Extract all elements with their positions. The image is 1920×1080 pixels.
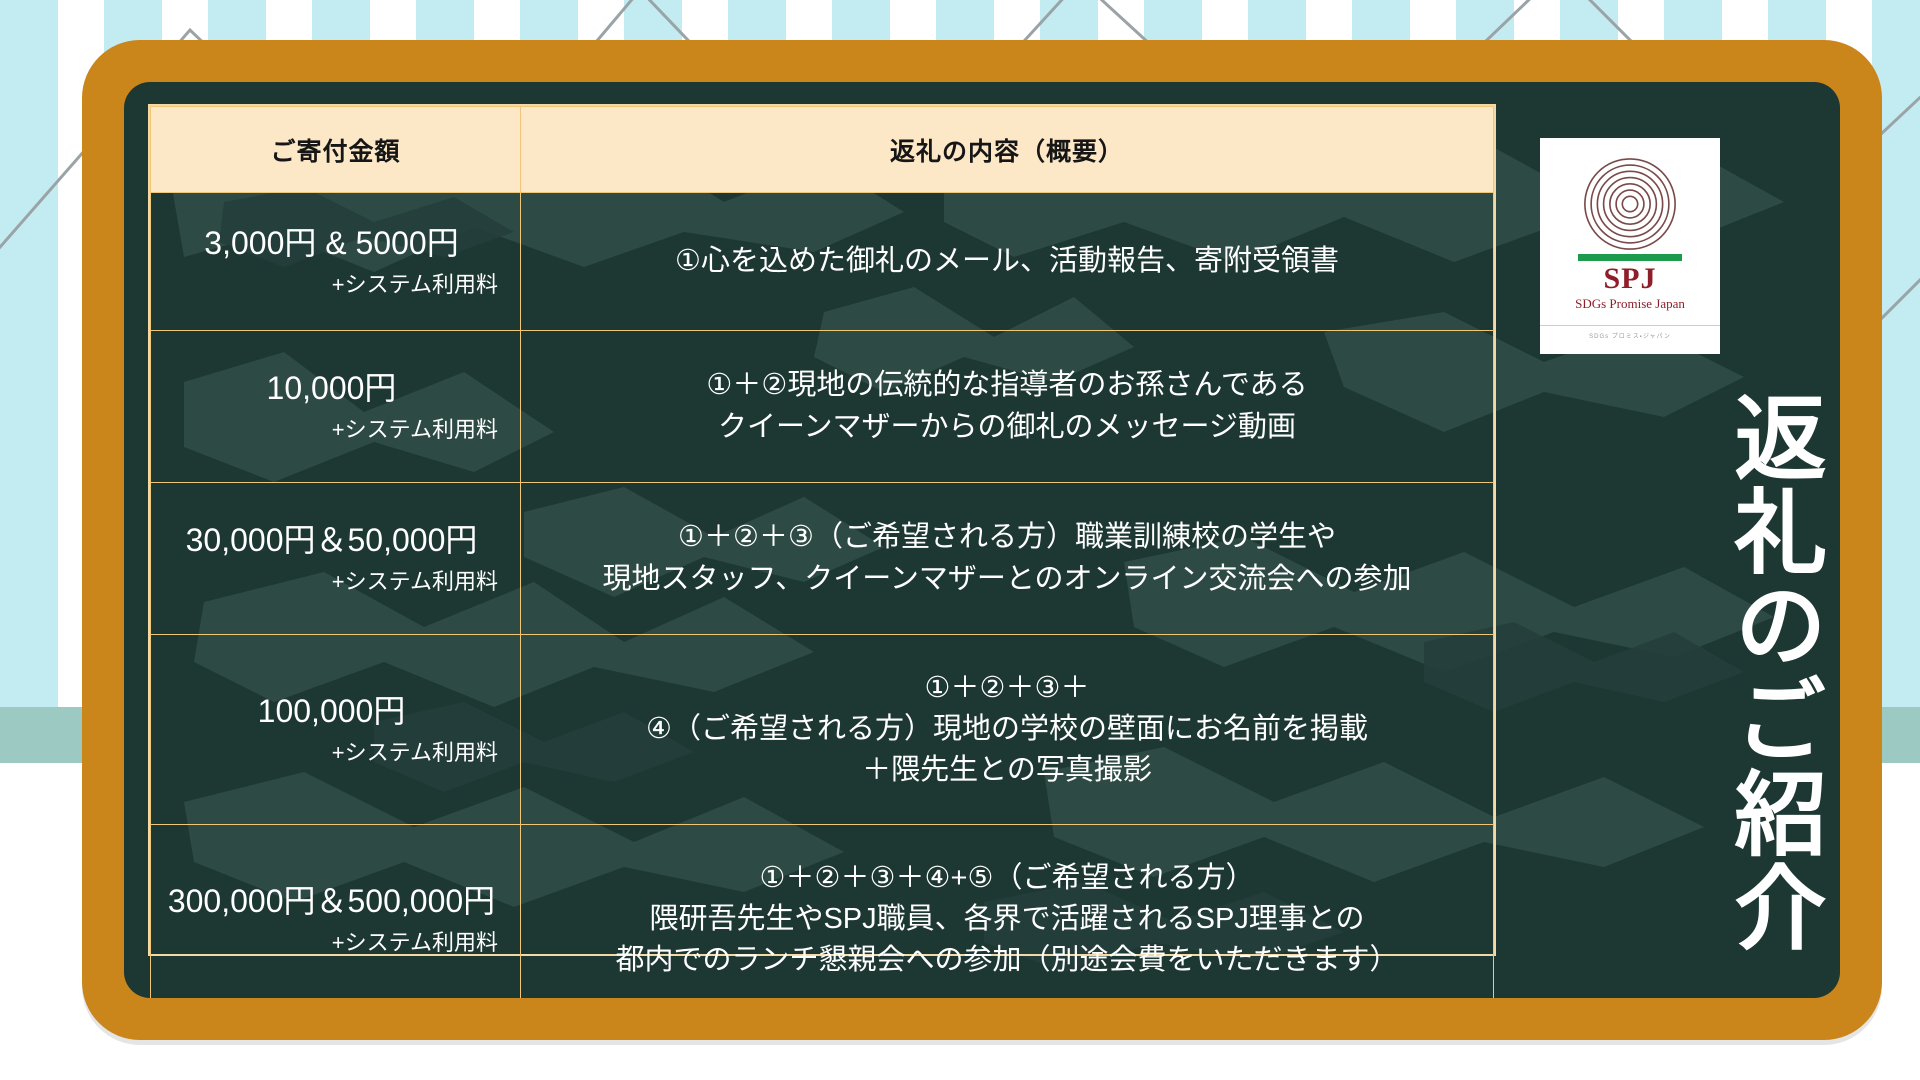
- reward-line: 現地スタッフ、クイーンマザーとのオンライン交流会への参加: [547, 559, 1467, 600]
- reward-line: ①心を込めた御礼のメール、活動報告、寄附受領書: [547, 241, 1467, 282]
- amount-cell: 300,000円＆500,000円 +システム利用料: [151, 825, 521, 999]
- amount-value: 10,000円: [161, 370, 502, 407]
- amount-value: 30,000円＆50,000円: [161, 522, 502, 559]
- rewards-table: ご寄付金額 返礼の内容（概要） 3,000円 & 5000円 +システム利用料 …: [150, 106, 1494, 998]
- dark-chalkboard-panel: ご寄付金額 返礼の内容（概要） 3,000円 & 5000円 +システム利用料 …: [124, 82, 1840, 998]
- reward-line: ④（ご希望される方）現地の学校の壁面にお名前を掲載: [547, 709, 1467, 750]
- rewards-table-container: ご寄付金額 返礼の内容（概要） 3,000円 & 5000円 +システム利用料 …: [148, 104, 1496, 956]
- slide-canvas: ご寄付金額 返礼の内容（概要） 3,000円 & 5000円 +システム利用料 …: [0, 0, 1920, 1080]
- reward-cell: ①＋②＋③＋④+⑤（ご希望される方） 隈研吾先生やSPJ職員、各界で活躍されるS…: [521, 825, 1494, 999]
- reward-line: ＋隈先生との写真撮影: [547, 750, 1467, 791]
- amount-cell: 10,000円 +システム利用料: [151, 331, 521, 483]
- system-fee-note: +システム利用料: [161, 569, 502, 595]
- amount-cell: 30,000円＆50,000円 +システム利用料: [151, 483, 521, 635]
- table-header-row: ご寄付金額 返礼の内容（概要）: [151, 107, 1494, 193]
- table-row: 10,000円 +システム利用料 ①＋②現地の伝統的な指導者のお孫さんである ク…: [151, 331, 1494, 483]
- right-side-panel: SPJ SDGs Promise Japan SDGs プロミス・ジャパン 返礼…: [1518, 104, 1818, 976]
- reward-cell: ①＋②現地の伝統的な指導者のお孫さんである クイーンマザーからの御礼のメッセージ…: [521, 331, 1494, 483]
- reward-line: 隈研吾先生やSPJ職員、各界で活躍されるSPJ理事との: [547, 899, 1467, 940]
- reward-line: ①＋②＋③＋④+⑤（ご希望される方）: [547, 858, 1467, 899]
- column-header-reward: 返礼の内容（概要）: [521, 107, 1494, 193]
- reward-cell: ①＋②＋③＋ ④（ご希望される方）現地の学校の壁面にお名前を掲載 ＋隈先生との写…: [521, 635, 1494, 825]
- table-row: 100,000円 +システム利用料 ①＋②＋③＋ ④（ご希望される方）現地の学校…: [151, 635, 1494, 825]
- logo-acronym: SPJ: [1603, 263, 1656, 295]
- system-fee-note: +システム利用料: [161, 930, 502, 956]
- reward-cell: ①＋②＋③（ご希望される方）職業訓練校の学生や 現地スタッフ、クイーンマザーとの…: [521, 483, 1494, 635]
- reward-line: クイーンマザーからの御礼のメッセージ動画: [547, 407, 1467, 448]
- logo-subtitle: SDGs Promise Japan: [1575, 296, 1685, 312]
- amount-value: 300,000円＆500,000円: [161, 883, 502, 920]
- amount-cell: 3,000円 & 5000円 +システム利用料: [151, 193, 521, 331]
- system-fee-note: +システム利用料: [161, 740, 502, 766]
- reward-line: ①＋②＋③（ご希望される方）職業訓練校の学生や: [547, 517, 1467, 558]
- logo-footnote: SDGs プロミス・ジャパン: [1540, 325, 1720, 340]
- table-row: 300,000円＆500,000円 +システム利用料 ①＋②＋③＋④+⑤（ご希望…: [151, 825, 1494, 999]
- reward-cell: ①心を込めた御礼のメール、活動報告、寄附受領書: [521, 193, 1494, 331]
- logo-green-bar: [1578, 254, 1682, 261]
- outer-orange-frame: ご寄付金額 返礼の内容（概要） 3,000円 & 5000円 +システム利用料 …: [82, 40, 1882, 1040]
- column-header-amount: ご寄付金額: [151, 107, 521, 193]
- amount-cell: 100,000円 +システム利用料: [151, 635, 521, 825]
- system-fee-note: +システム利用料: [161, 272, 502, 298]
- table-row: 30,000円＆50,000円 +システム利用料 ①＋②＋③（ご希望される方）職…: [151, 483, 1494, 635]
- system-fee-note: +システム利用料: [161, 417, 502, 443]
- reward-line: ①＋②現地の伝統的な指導者のお孫さんである: [547, 365, 1467, 406]
- concentric-circles-icon: [1582, 156, 1678, 252]
- page-title-vertical: 返礼のご紹介: [1518, 372, 1818, 972]
- amount-value: 100,000円: [161, 693, 502, 730]
- reward-line: ①＋②＋③＋: [547, 668, 1467, 709]
- reward-line: 都内でのランチ懇親会への参加（別途会費をいただきます）: [547, 940, 1467, 981]
- table-row: 3,000円 & 5000円 +システム利用料 ①心を込めた御礼のメール、活動報…: [151, 193, 1494, 331]
- amount-value: 3,000円 & 5000円: [161, 225, 502, 262]
- spj-logo-card: SPJ SDGs Promise Japan SDGs プロミス・ジャパン: [1540, 138, 1720, 354]
